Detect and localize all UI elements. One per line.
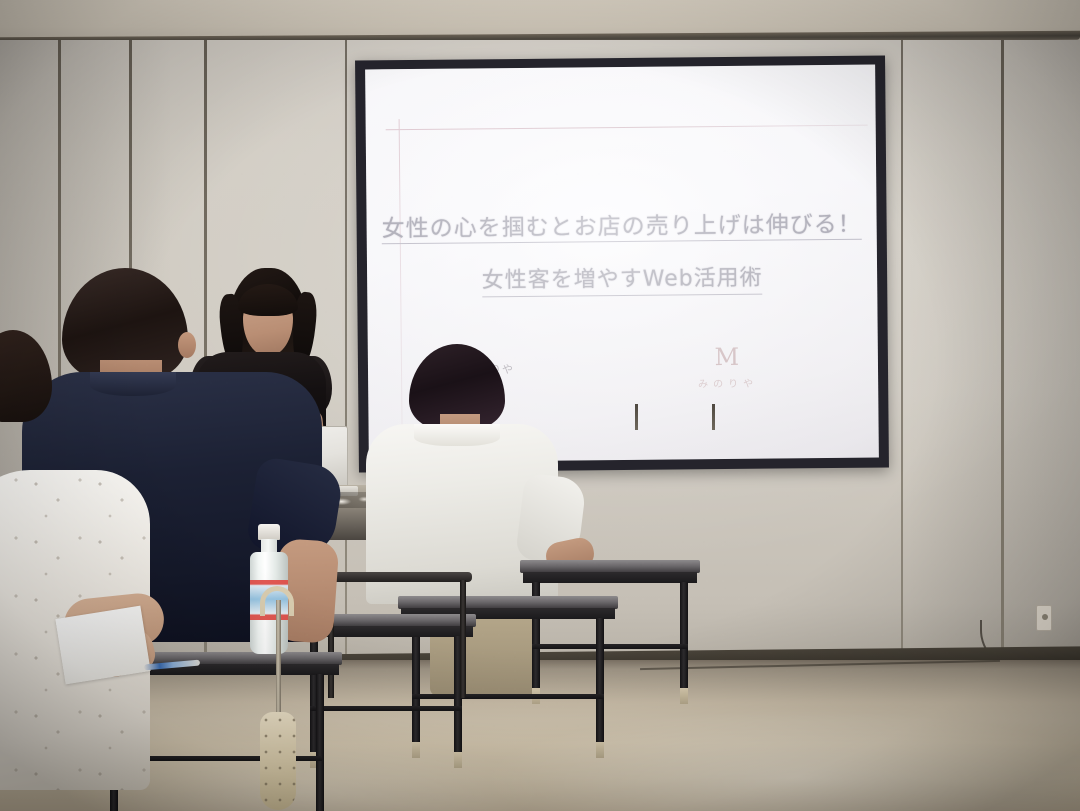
slide-title: 女性の心を掴むとお店の売り上げは伸びる！ [367, 213, 877, 245]
chair-center [322, 572, 472, 702]
slide-logo: M みのりや [668, 342, 788, 390]
logo-wordmark: みのりや [668, 374, 788, 390]
desk-foot [680, 688, 688, 704]
slide-subtitle-text: 女性客を増やすWeb活用術 [481, 260, 762, 298]
desk-foot [454, 752, 462, 768]
attendee-navy-collar [90, 372, 176, 396]
wall-seam-6 [1001, 40, 1004, 680]
attendee-navy-ear [178, 332, 196, 358]
umbrella-canopy [260, 712, 296, 810]
umbrella-shaft [276, 600, 281, 720]
desk-leg [316, 674, 324, 811]
bottle-cap [258, 524, 280, 540]
desk-apron [523, 572, 697, 583]
screen-support-leg-left [635, 404, 638, 430]
screen-support-leg-right [712, 404, 715, 430]
slide-subtitle: 女性客を増やすWeb活用術 [367, 259, 877, 299]
handout-paper [55, 606, 150, 685]
folded-umbrella [258, 600, 298, 810]
logo-mark-icon: M [668, 342, 788, 371]
chair-post [460, 580, 466, 698]
desk-leg [596, 618, 604, 746]
attendee-center-collar [414, 424, 500, 446]
slide-guide-horizontal [386, 125, 868, 131]
slide-title-text: 女性の心を掴むとお店の売り上げは伸びる！ [382, 213, 862, 245]
seminar-room-photo: 女性の心を掴むとお店の売り上げは伸びる！ 女性客を増やすWeb活用術 （有）みの… [0, 0, 1080, 811]
chair-backrest [322, 572, 472, 582]
wall-seam-5 [901, 40, 903, 680]
desk-foot [596, 742, 604, 758]
desk-leg [680, 582, 688, 692]
